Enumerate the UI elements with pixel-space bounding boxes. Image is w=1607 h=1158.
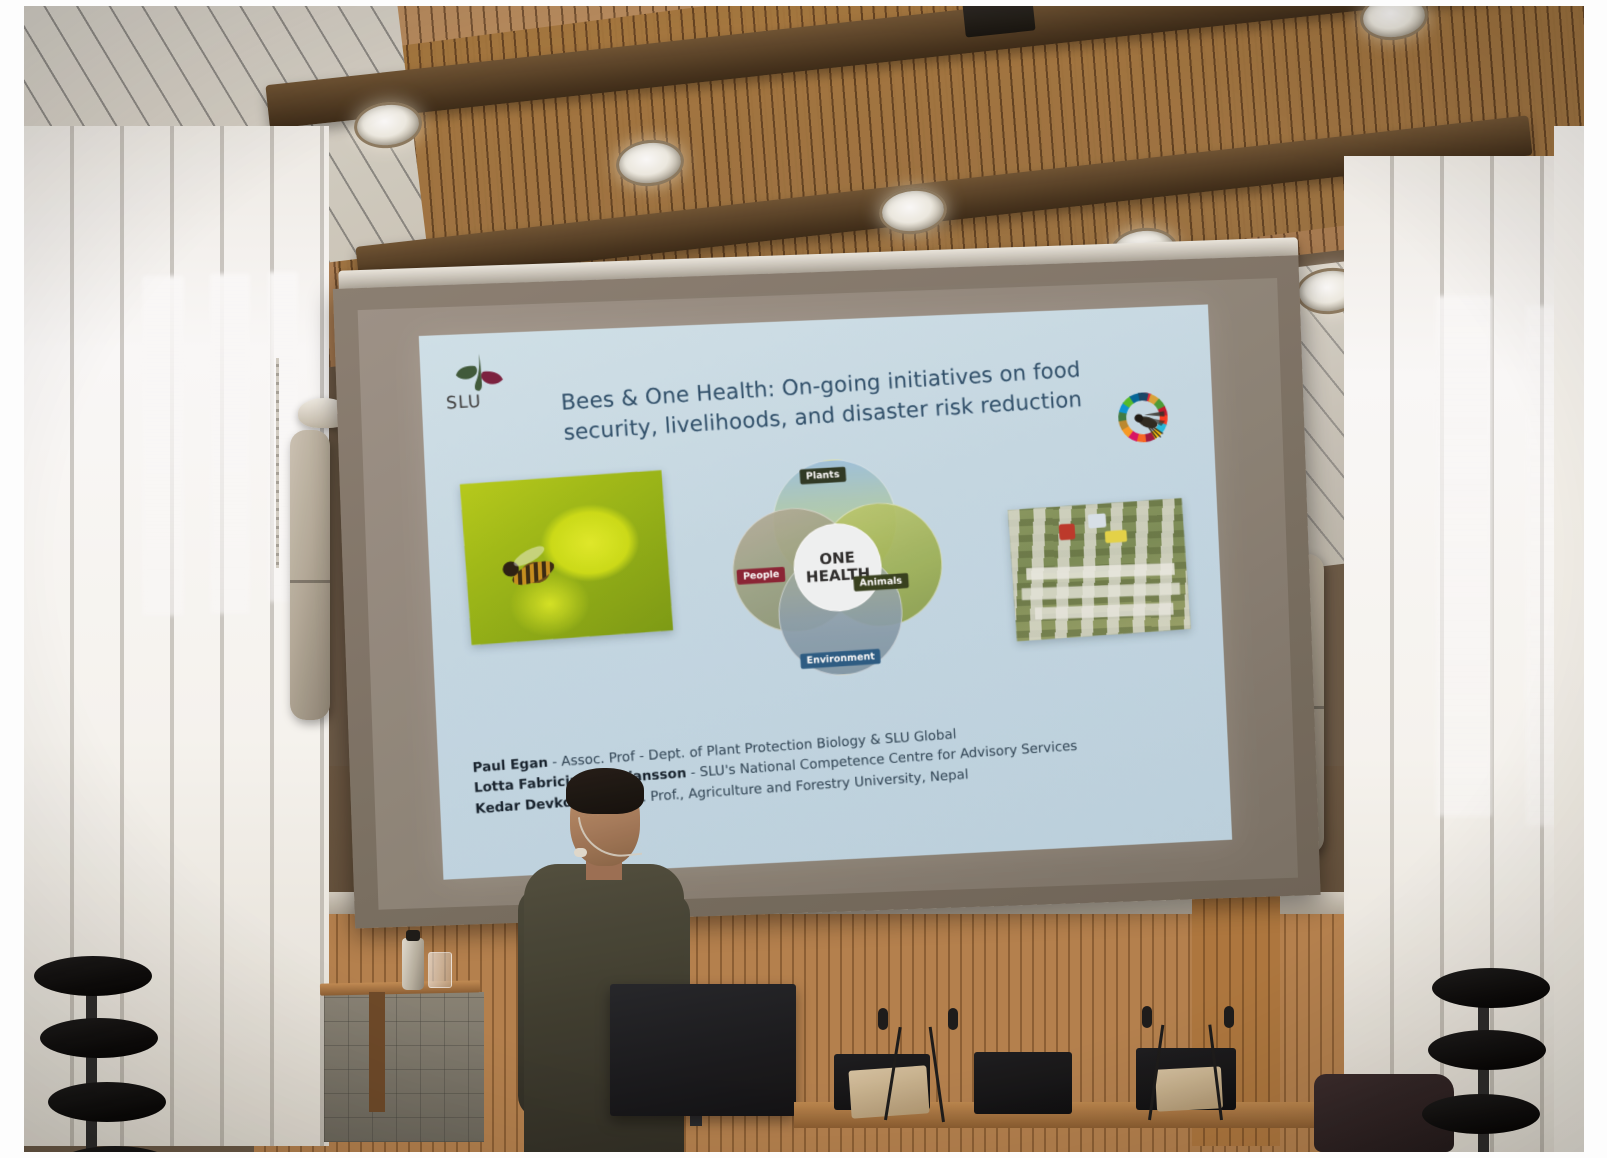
sdg-wheel-bee-logo xyxy=(1113,387,1174,448)
projection-screen: SLU xyxy=(312,237,1335,961)
wall-grid-panel xyxy=(324,992,484,1142)
laptop-screen xyxy=(974,1052,1072,1114)
microphone-head xyxy=(1224,1006,1234,1028)
window-edge-right xyxy=(1554,126,1584,1152)
one-health-venn-diagram: ONE HEALTH Plants People Animals Environ… xyxy=(726,453,947,680)
window-light-right xyxy=(1436,296,1492,816)
water-bottle-cap xyxy=(406,930,420,941)
screenshot-root: SLU xyxy=(0,0,1607,1158)
headset-microphone-capsule xyxy=(574,848,587,857)
drinking-glass xyxy=(428,952,452,988)
bee-on-rapeseed-flower-photo xyxy=(460,470,673,645)
slide-title: Bees & One Health: On-going initiatives … xyxy=(540,354,1103,449)
microphone-head xyxy=(948,1008,958,1030)
presenter-hair xyxy=(566,768,644,814)
water-bottle xyxy=(402,938,424,990)
venn-label-people: People xyxy=(737,567,786,585)
slu-wordmark: SLU xyxy=(446,392,483,414)
side-table-leg xyxy=(369,992,385,1112)
window-light-left xyxy=(210,274,250,614)
lecture-hall-photo: SLU xyxy=(24,6,1584,1152)
window-chain xyxy=(276,358,279,568)
beehives-apiary-photo xyxy=(1008,498,1191,641)
venn-label-plants: Plants xyxy=(799,467,845,485)
microphone-head xyxy=(1142,1006,1152,1028)
lectern-monitor xyxy=(610,984,796,1116)
window-light-left xyxy=(142,276,184,616)
microphone-head xyxy=(878,1008,888,1030)
laptop-lid xyxy=(1155,1066,1223,1111)
